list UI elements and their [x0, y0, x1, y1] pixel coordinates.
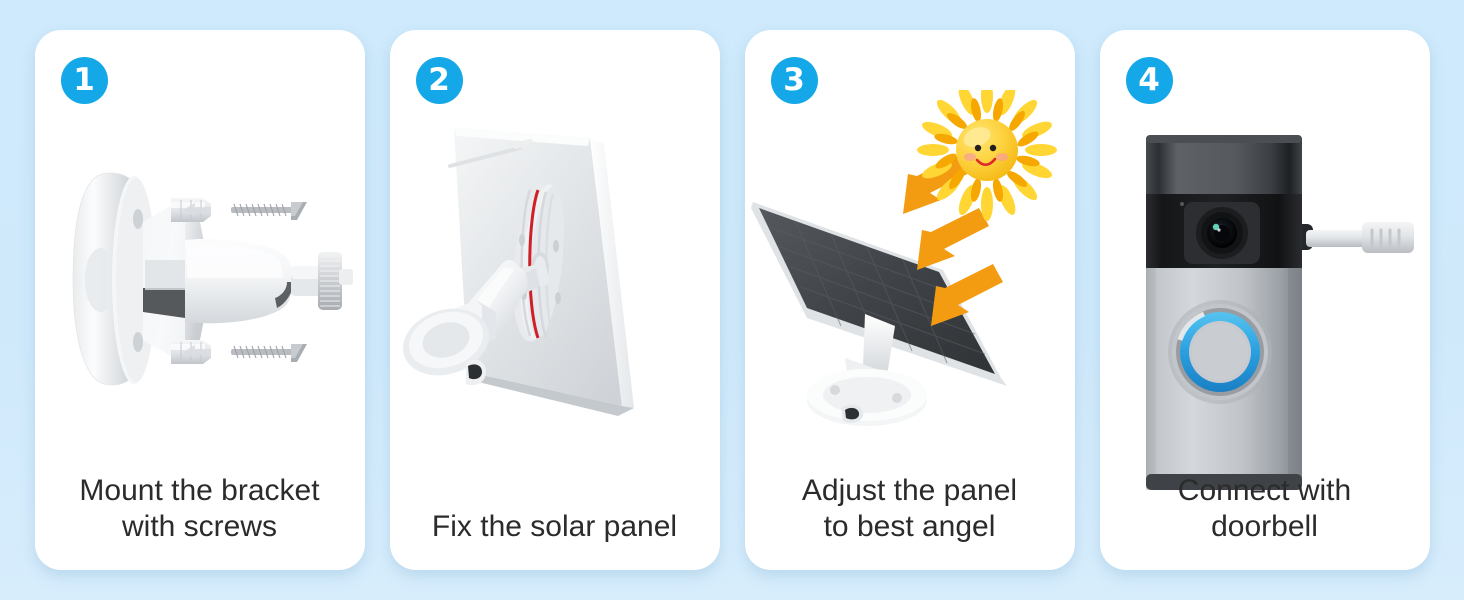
- step-caption-2: Fix the solar panel: [390, 509, 720, 546]
- step-caption-3-line2: to best angel: [755, 509, 1065, 546]
- step-caption-2-line1: Fix the solar panel: [432, 510, 677, 543]
- step-caption-4-line1: Connect with: [1178, 474, 1351, 507]
- solar-panel-mount-assembly-illustration: [390, 90, 720, 490]
- step-caption-3-line1: Adjust the panel: [802, 474, 1017, 507]
- step-number-badge-3: 3: [771, 57, 818, 104]
- step-card-2: 2: [390, 30, 720, 570]
- video-doorbell-with-cable-illustration: [1100, 90, 1430, 490]
- step-card-4: 4: [1100, 30, 1430, 570]
- solar-panel-sun-angle-illustration: [745, 90, 1075, 490]
- step-card-3: 3: [745, 30, 1075, 570]
- step-number-badge-1: 1: [61, 57, 108, 104]
- wall-bracket-with-screws-illustration: [35, 90, 365, 490]
- step-number-badge-2: 2: [416, 57, 463, 104]
- step-caption-4: Connect with doorbell: [1100, 473, 1430, 546]
- step-caption-1-line1: Mount the bracket: [79, 474, 319, 507]
- step-number-badge-4: 4: [1126, 57, 1173, 104]
- step-caption-4-line2: doorbell: [1110, 509, 1420, 546]
- step-caption-3: Adjust the panel to best angel: [745, 473, 1075, 546]
- step-card-1: 1: [35, 30, 365, 570]
- installation-steps-infographic: 1: [0, 0, 1464, 600]
- step-caption-1-line2: with screws: [45, 509, 355, 546]
- step-caption-1: Mount the bracket with screws: [35, 473, 365, 546]
